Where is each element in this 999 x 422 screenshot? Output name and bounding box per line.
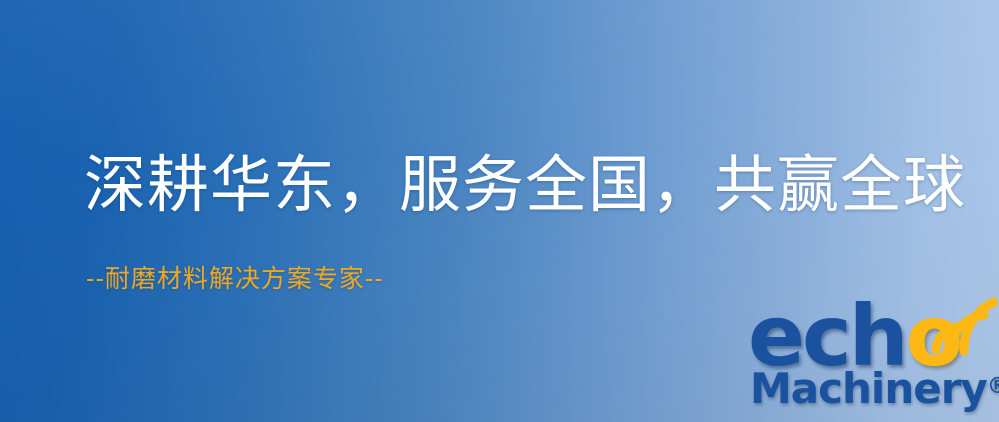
signal-arcs-icon	[928, 294, 998, 356]
hero-banner: 深耕华东，服务全国，共赢全球 --耐磨材料解决方案专家-- echo Machi…	[0, 0, 999, 422]
echo-machinery-logo: echo Machinery®	[742, 296, 999, 422]
banner-subtitle: --耐磨材料解决方案专家--	[86, 266, 384, 291]
registered-trademark-icon: ®	[987, 374, 999, 399]
logo-tagline-machinery: Machinery®	[750, 368, 999, 410]
banner-headline: 深耕华东，服务全国，共赢全球	[84, 154, 966, 216]
logo-tagline-text: Machinery	[750, 364, 987, 413]
